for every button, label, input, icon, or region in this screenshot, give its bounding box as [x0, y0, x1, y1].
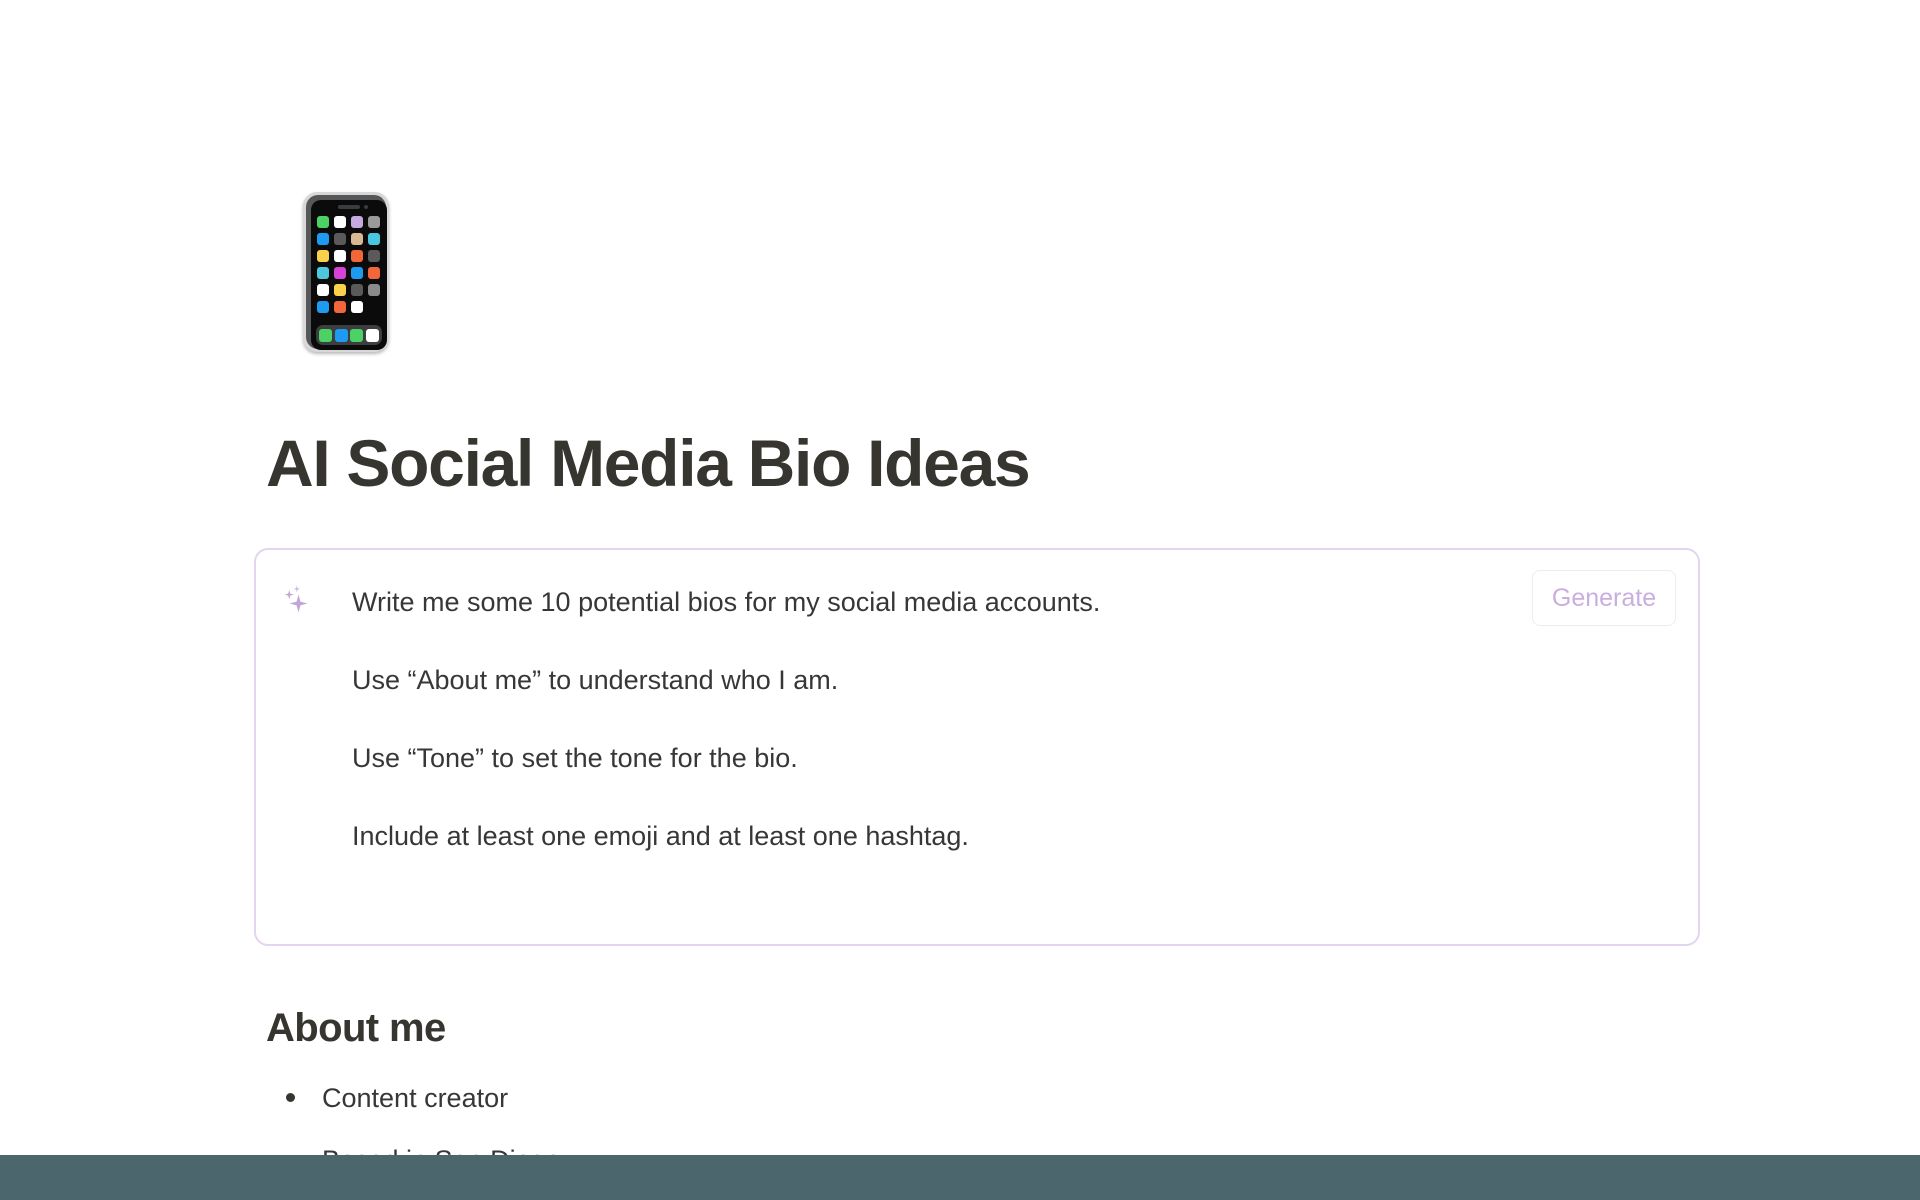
- phone-app-tile: [317, 216, 329, 228]
- phone-speaker-notch: [338, 205, 360, 209]
- prompt-line-1[interactable]: Write me some 10 potential bios for my s…: [352, 584, 1100, 620]
- phone-app-tile: [368, 267, 380, 279]
- phone-app-tile: [317, 233, 329, 245]
- phone-app-tile: [351, 284, 363, 296]
- phone-app-tile: [334, 216, 346, 228]
- phone-outer-frame: [303, 192, 389, 352]
- sparkles-icon: [281, 584, 311, 614]
- phone-dock: [316, 325, 382, 345]
- bullet-dot-icon: [286, 1093, 295, 1102]
- phone-body: [306, 195, 386, 349]
- phone-app-tile: [351, 216, 363, 228]
- bottom-bar: [0, 1155, 1920, 1200]
- phone-app-tile: [351, 233, 363, 245]
- phone-screen: [311, 200, 387, 350]
- phone-app-tile: [334, 250, 346, 262]
- phone-app-tile: [368, 233, 380, 245]
- mobile-phone-emoji-icon[interactable]: [303, 192, 389, 352]
- app-page: AI Social Media Bio Ideas Write me some …: [0, 0, 1920, 1200]
- phone-app-grid: [317, 216, 381, 313]
- phone-app-tile: [351, 250, 363, 262]
- phone-app-tile: [351, 267, 363, 279]
- phone-app-tile: [334, 233, 346, 245]
- about-me-heading: About me: [266, 1008, 446, 1048]
- phone-app-tile: [317, 301, 329, 313]
- phone-camera-dot: [364, 205, 368, 209]
- phone-dock-tile: [335, 329, 348, 342]
- phone-app-tile: [368, 284, 380, 296]
- phone-app-tile: [317, 284, 329, 296]
- phone-dock-tile: [366, 329, 379, 342]
- list-item[interactable]: Content creator: [266, 1080, 1466, 1116]
- list-item-label: Content creator: [322, 1083, 508, 1113]
- phone-app-tile: [368, 216, 380, 228]
- phone-app-tile: [317, 267, 329, 279]
- prompt-line-4[interactable]: Include at least one emoji and at least …: [352, 818, 969, 854]
- phone-dock-tile: [350, 329, 363, 342]
- phone-app-tile: [368, 250, 380, 262]
- generate-button[interactable]: Generate: [1532, 570, 1676, 626]
- phone-app-tile: [334, 284, 346, 296]
- phone-dock-tile: [319, 329, 332, 342]
- phone-app-tile: [334, 301, 346, 313]
- prompt-line-2[interactable]: Use “About me” to understand who I am.: [352, 662, 838, 698]
- phone-app-tile: [334, 267, 346, 279]
- prompt-card[interactable]: Write me some 10 potential bios for my s…: [254, 548, 1700, 946]
- prompt-line-3[interactable]: Use “Tone” to set the tone for the bio.: [352, 740, 798, 776]
- phone-app-tile: [317, 250, 329, 262]
- phone-app-tile: [351, 301, 363, 313]
- page-title: AI Social Media Bio Ideas: [266, 430, 1029, 496]
